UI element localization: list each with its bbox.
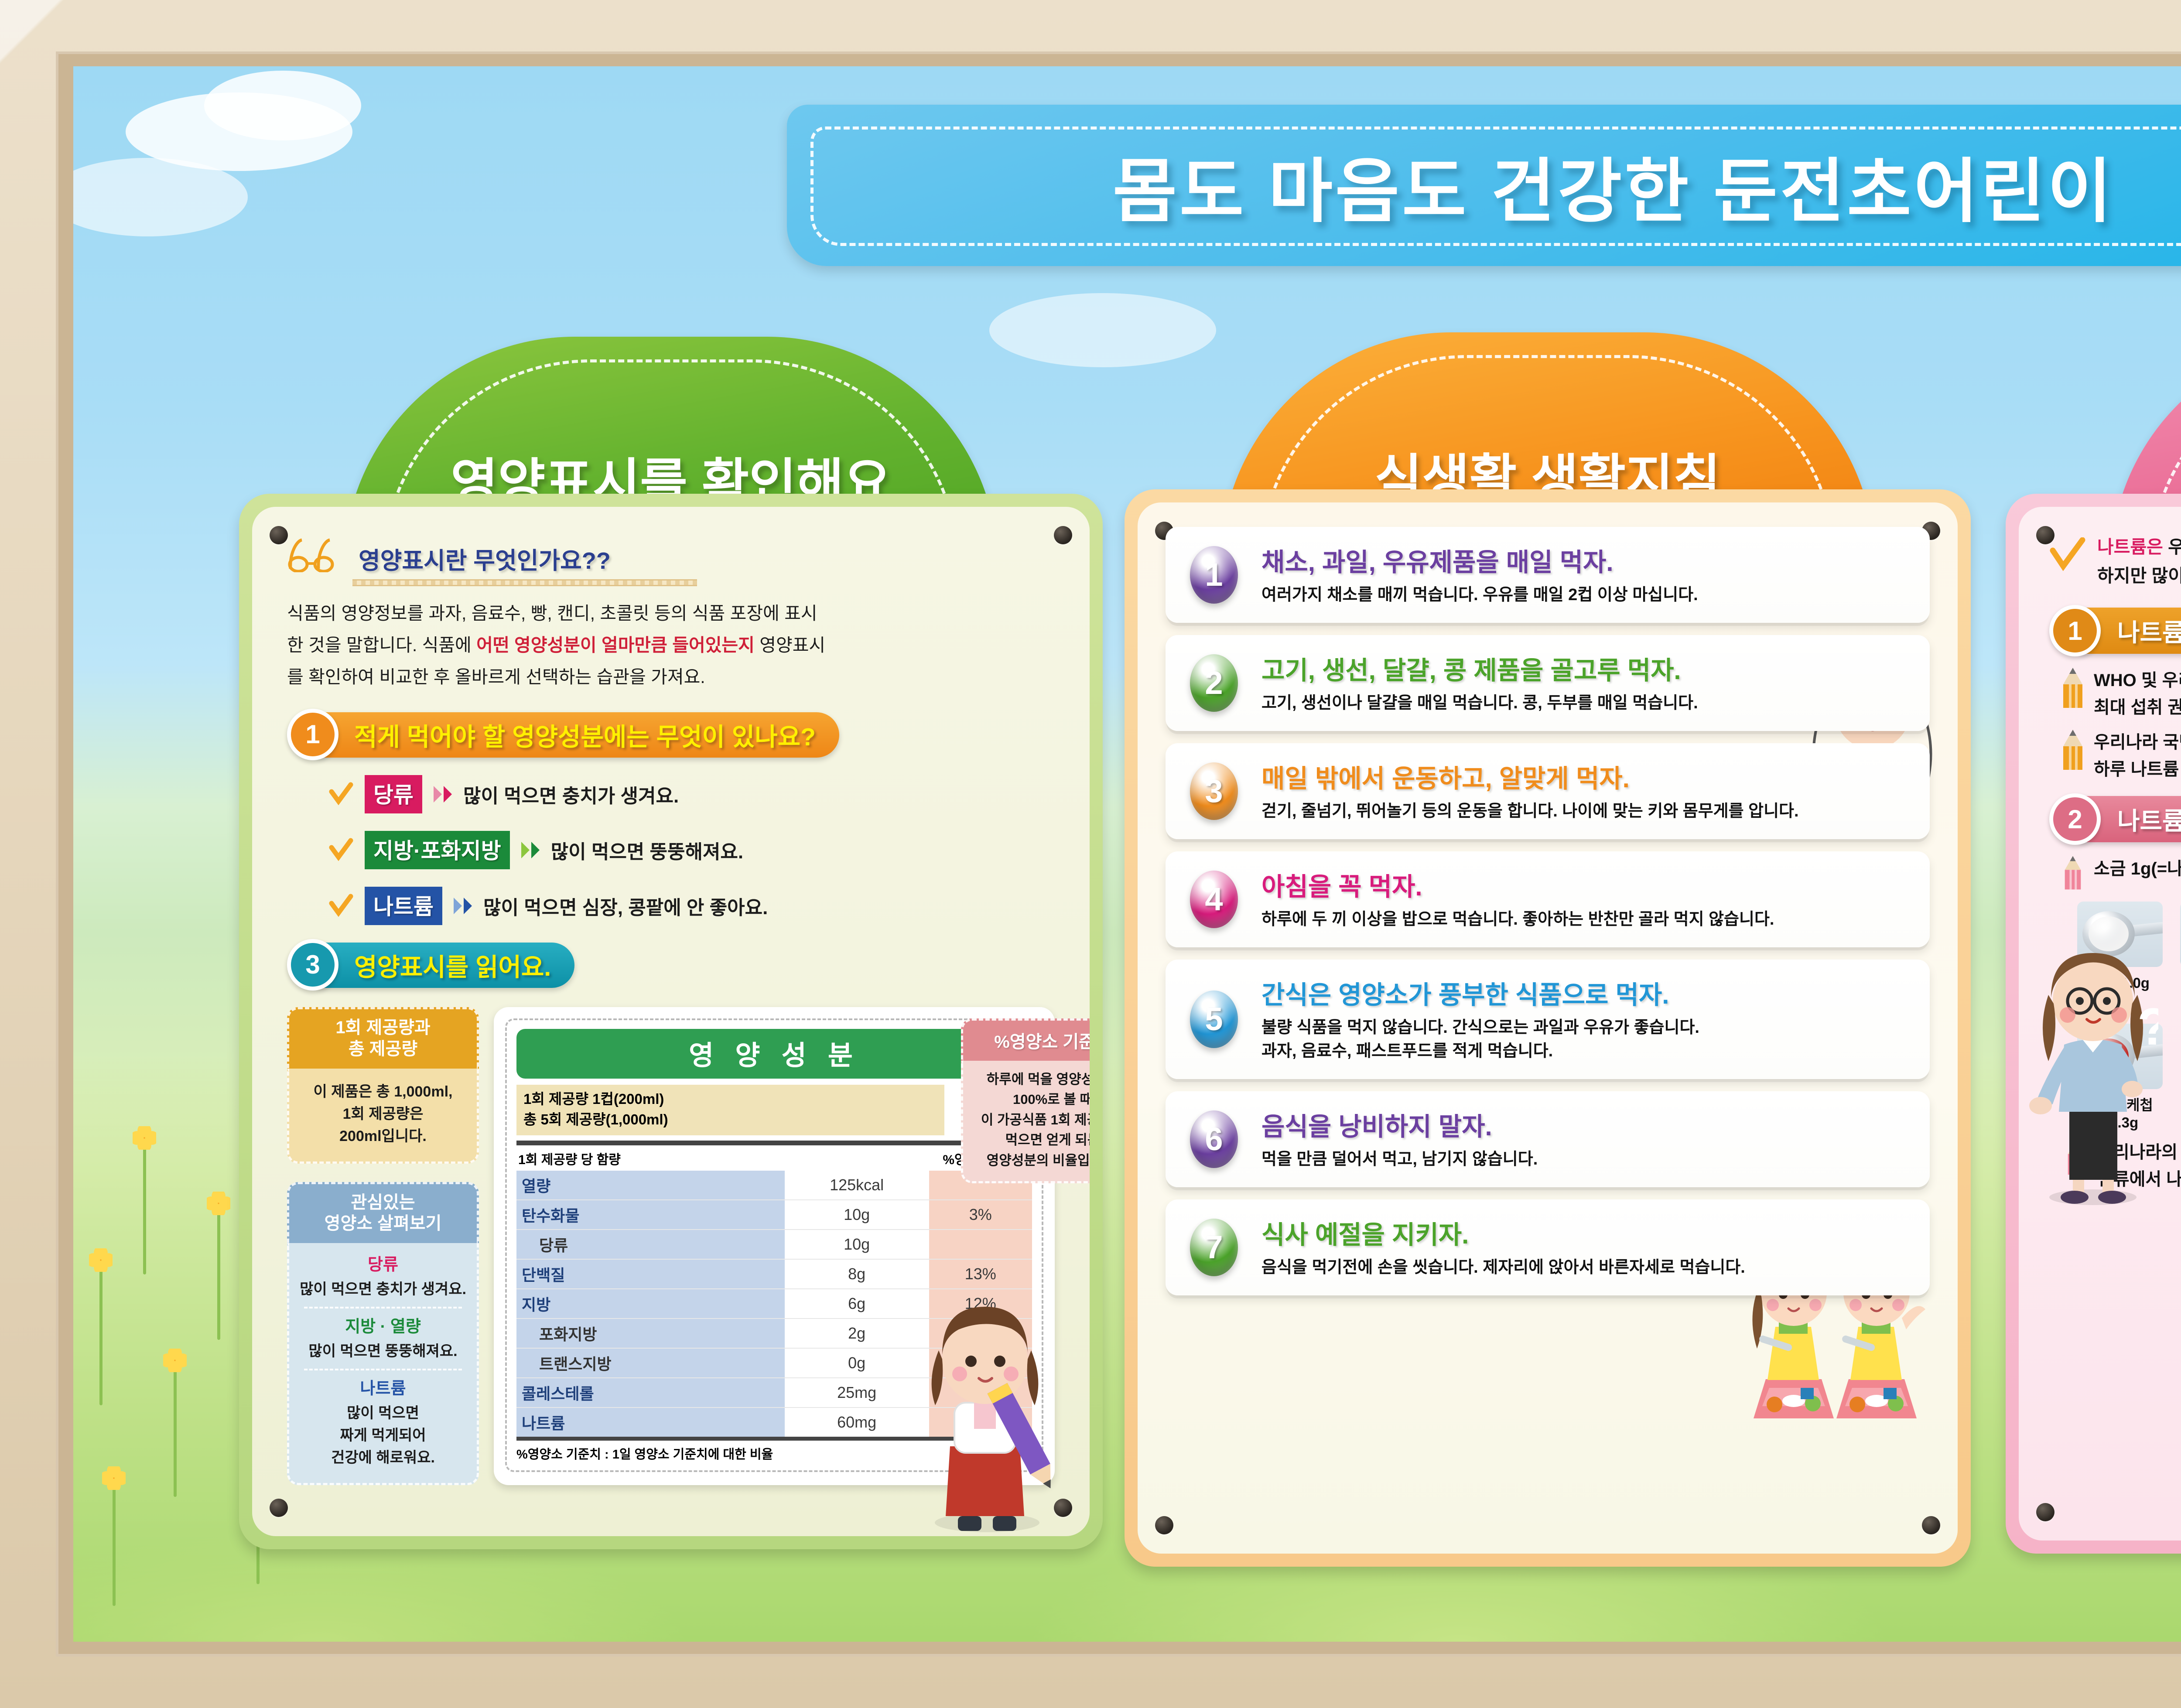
guideline-title: 매일 밖에서 운동하고, 알맞게 먹자. — [1261, 758, 1912, 795]
callout-body: 하루에 먹을 영양성분을 100%로 볼 때 이 가공식품 1회 제공량을 먹으… — [961, 1061, 1090, 1184]
interest-nutrients-box: 관심있는 영양소 살펴보기 당류 많이 먹으면 충치가 생겨요. 지방 · 열량… — [287, 1182, 479, 1486]
arrow-icons — [521, 842, 540, 858]
section-1-label: 적게 먹어야 할 영양성분에는 무엇이 있나요? — [354, 717, 816, 753]
interest-text: 많이 먹으면 뚱뚱해져요. — [296, 1340, 470, 1363]
explainer-side-column: 1회 제공량과 총 제공량 이 제품은 총 1,000ml, 1회 제공량은 2… — [287, 1007, 479, 1485]
nutrient-name: 콜레스테롤 — [516, 1378, 785, 1407]
teacher-girl-character: ? — [2027, 936, 2158, 1206]
flower-stem — [217, 1209, 220, 1340]
list-item: 지방·포화지방 많이 먹으면 뚱뚱해져요. — [329, 831, 1055, 869]
nutrient-name: 포화지방 — [516, 1319, 785, 1348]
nutrient-name: 나트륨 — [516, 1407, 785, 1437]
guideline-title: 고기, 생선, 달걀, 콩 제품을 골고루 먹자. — [1261, 650, 1912, 687]
nutrient-tag: 지방·포화지방 — [365, 831, 510, 869]
guideline-card: 6음식을 낭비하지 말자.먹을 만큼 덜어서 먹고, 남기지 않습니다. — [1166, 1091, 1930, 1187]
panel-left-card: 영양표시란 무엇인가요?? 식품의 영양정보를 과자, 음료수, 빵, 캔디, … — [239, 494, 1103, 1549]
flower-stem — [174, 1366, 177, 1497]
guideline-body: 고기, 생선이나 달걀을 매일 먹습니다. 콩, 두부를 매일 먹습니다. — [1261, 692, 1912, 715]
cloud — [204, 71, 361, 140]
nutrient-amount: 125kcal — [785, 1171, 929, 1200]
guideline-body: 불량 식품을 먹지 않습니다. 간식으로는 과일과 우유가 좋습니다. 과자, … — [1261, 1016, 1912, 1063]
interest-text: 많이 먹으면 충치가 생겨요. — [296, 1278, 470, 1301]
guideline-body: 여러가지 채소를 매끼 먹습니다. 우유를 매일 2컵 이상 마십니다. — [1261, 584, 1912, 607]
interest-name: 지방 · 열량 — [296, 1315, 470, 1339]
table-row: 탄수화물10g3% — [516, 1200, 1032, 1230]
fact-row: 우리나라 국민 1인당 하루 나트륨 섭취량 : 4,878mg (2011기준… — [2061, 729, 2181, 783]
glasses-icon — [287, 538, 348, 572]
divider — [304, 1369, 462, 1370]
nutrient-name: 트랜스지방 — [516, 1348, 785, 1378]
nutrient-tag: 당류 — [365, 775, 422, 813]
guideline-body: 음식을 먹기전에 손을 씻습니다. 제자리에 앉아서 바른자세로 먹습니다. — [1261, 1256, 1912, 1280]
guideline-card: 7식사 예절을 지키자.음식을 먹기전에 손을 씻습니다. 제자리에 앉아서 바… — [1166, 1199, 1930, 1295]
pencil-icon — [2061, 855, 2084, 890]
col-header-left: 1회 제공량 당 함량 — [518, 1149, 621, 1168]
guideline-card: 5간식은 영양소가 풍부한 식품으로 먹자.불량 식품을 먹지 않습니다. 간식… — [1166, 960, 1930, 1079]
panel-mid-inner: 1채소, 과일, 우유제품을 매일 먹자.여러가지 채소를 매끼 먹습니다. 우… — [1138, 502, 1958, 1554]
page-title: 몸도 마음도 건강한 둔전초어린이 — [1113, 135, 2114, 236]
nutrient-desc: 많이 먹으면 충치가 생겨요. — [463, 780, 679, 808]
serving-size-box: 1회 제공량과 총 제공량 이 제품은 총 1,000ml, 1회 제공량은 2… — [287, 1007, 479, 1164]
guideline-number: 3 — [1190, 762, 1238, 820]
girl-with-pencil-character — [893, 1272, 1081, 1534]
nutrient-name: 지방 — [516, 1289, 785, 1319]
section-3-label: 영양표시를 읽어요. — [354, 947, 551, 983]
reduce-nutrient-list: 당류 많이 먹으면 충치가 생겨요. 지방·포화지방 — [329, 775, 1055, 925]
interest-head: 관심있는 영양소 살펴보기 — [287, 1182, 479, 1243]
panel-dietary-guidelines: 식생활 생활지침 — [1125, 332, 1971, 1567]
guideline-title: 음식을 낭비하지 말자. — [1261, 1106, 1912, 1143]
interest-name: 나트륨 — [296, 1377, 470, 1401]
nutrient-name: 당류 — [516, 1230, 785, 1259]
guideline-card: 3매일 밖에서 운동하고, 알맞게 먹자.걷기, 줄넘기, 뛰어놀기 등의 운동… — [1166, 743, 1930, 839]
nutrient-percent — [929, 1230, 1032, 1259]
nutrient-desc: 많이 먹으면 심장, 콩팥에 안 좋아요. — [483, 892, 768, 920]
pencil-icon — [2061, 667, 2084, 709]
table-header: 1회 제공량 당 함량 %영양소 기준치 — [516, 1145, 1032, 1171]
guideline-number: 6 — [1190, 1110, 1238, 1168]
guideline-body: 하루에 두 끼 이상을 밥으로 먹습니다. 좋아하는 반찬만 골라 먹지 않습니… — [1261, 908, 1912, 932]
right-section-1-label: 나트륨 섭취량 얼마나 되나요? — [2117, 613, 2181, 649]
intro-highlight: 어떤 영양성분이 얼마만큼 들어있는지 — [476, 635, 755, 655]
poster: 몸도 마음도 건강한 둔전초어린이 영양표시를 확인해요 — [0, 0, 2181, 1708]
guideline-title: 식사 예절을 지키자. — [1261, 1214, 1912, 1251]
salt-equivalent-note-row: 소금 1g(=나트륨 400mg)에 해당하는 양 — [2061, 855, 2181, 890]
nutrient-desc: 많이 먹으면 뚱뚱해져요. — [551, 836, 743, 864]
check-icon — [329, 894, 353, 918]
arrow-icons — [454, 898, 472, 914]
screw — [2036, 1503, 2055, 1521]
arrow-icons — [434, 786, 452, 803]
decorative-underline — [352, 579, 697, 586]
guideline-body: 걷기, 줄넘기, 뛰어놀기 등의 운동을 합니다. 나이에 맞는 키와 몸무게를… — [1261, 800, 1912, 823]
check-icon — [329, 782, 353, 806]
guideline-number: 4 — [1190, 871, 1238, 928]
question-header: 영양표시란 무엇인가요?? — [287, 538, 1055, 576]
guidelines-list: 1채소, 과일, 우유제품을 매일 먹자.여러가지 채소를 매끼 먹습니다. 우… — [1138, 502, 1958, 1332]
poster-scene: 몸도 마음도 건강한 둔전초어린이 영양표시를 확인해요 — [73, 66, 2181, 1642]
flower-icon — [102, 1466, 126, 1490]
screw — [1922, 1516, 1940, 1534]
thick-rule — [516, 1141, 1032, 1145]
right-section-2-bar: 2 나트륨 어디에 많이 있나요? — [2049, 796, 2181, 842]
guideline-card: 4아침을 꼭 먹자.하루에 두 끼 이상을 밥으로 먹습니다. 좋아하는 반찬만… — [1166, 851, 1930, 947]
right-section-1-number: 1 — [2049, 605, 2101, 656]
panel-nutrition-label: 영양표시를 확인해요 — [239, 337, 1103, 1549]
flower-stem — [143, 1144, 146, 1274]
panel-right-card: 나트륨은 우리 몸의 체액과 혈액량을 일정하게 조절 해주는 중요한 영양 성… — [2006, 494, 2181, 1554]
serving-size-body: 이 제품은 총 1,000ml, 1회 제공량은 200ml입니다. — [287, 1069, 479, 1164]
guideline-card: 1채소, 과일, 우유제품을 매일 먹자.여러가지 채소를 매끼 먹습니다. 우… — [1166, 527, 1930, 623]
list-item: 당류 많이 먹으면 충치가 생겨요. — [329, 775, 1055, 813]
interest-body: 당류 많이 먹으면 충치가 생겨요. 지방 · 열량 많이 먹으면 뚱뚱해져요.… — [287, 1243, 479, 1485]
poster-title-banner: 몸도 마음도 건강한 둔전초어린이 — [787, 105, 2181, 266]
guideline-number: 2 — [1190, 654, 1238, 712]
sodium-intro: 나트륨은 우리 몸의 체액과 혈액량을 일정하게 조절 해주는 중요한 영양 성… — [2049, 533, 2181, 590]
guideline-title: 간식은 영양소가 풍부한 식품으로 먹자. — [1261, 974, 1912, 1011]
section-1-number: 1 — [287, 709, 338, 760]
guideline-number: 7 — [1190, 1219, 1238, 1276]
flower-icon — [207, 1192, 230, 1215]
section-3-bar: 3 영양표시를 읽어요. — [287, 943, 1055, 988]
right-section-2-label: 나트륨 어디에 많이 있나요? — [2117, 802, 2181, 837]
guideline-number: 5 — [1190, 991, 1238, 1048]
guideline-body: 먹을 만큼 덜어서 먹고, 남기지 않습니다. — [1261, 1148, 1912, 1172]
panel-right-inner: 나트륨은 우리 몸의 체액과 혈액량을 일정하게 조절 해주는 중요한 영양 성… — [2019, 507, 2181, 1541]
pencil-icon — [2061, 729, 2084, 771]
flower-stem — [113, 1484, 116, 1606]
daily-value-callout: %영양소 기준치 하루에 먹을 영양성분을 100%로 볼 때 이 가공식품 1… — [961, 1018, 1090, 1184]
nutrient-name: 단백질 — [516, 1259, 785, 1289]
screw — [1155, 1516, 1173, 1534]
serving-line-1: 1회 제공량 1컵(200ml) — [523, 1089, 937, 1110]
list-item: 나트륨 많이 먹으면 심장, 콩팥에 안 좋아요. — [329, 887, 1055, 925]
check-icon — [2049, 537, 2086, 574]
guideline-title: 채소, 과일, 우유제품을 매일 먹자. — [1261, 542, 1912, 578]
fact-row: WHO 및 우리나라 최대 섭취 권고량 : 2,000mg — [2061, 667, 2181, 721]
interest-name: 당류 — [296, 1253, 470, 1278]
serving-line-2: 총 5회 제공량(1,000ml) — [523, 1110, 937, 1130]
sodium-intro-text: 나트륨은 우리 몸의 체액과 혈액량을 일정하게 조절 해주는 중요한 영양 성… — [2097, 533, 2181, 590]
panel-left-inner: 영양표시란 무엇인가요?? 식품의 영양정보를 과자, 음료수, 빵, 캔디, … — [252, 507, 1090, 1536]
flower-icon — [89, 1248, 113, 1272]
check-icon — [329, 838, 353, 862]
nutrient-amount: 10g — [785, 1230, 929, 1259]
sodium-intro-strong: 나트륨은 — [2097, 537, 2163, 557]
guideline-number: 1 — [1190, 546, 1238, 604]
salt-equivalent-note: 소금 1g(=나트륨 400mg)에 해당하는 양 — [2094, 855, 2181, 882]
nutrient-percent: 3% — [929, 1200, 1032, 1230]
flower-icon — [133, 1126, 156, 1150]
nutrient-name: 열량 — [516, 1171, 785, 1200]
right-section-1-bar: 1 나트륨 섭취량 얼마나 되나요? — [2049, 608, 2181, 654]
intro-paragraph: 식품의 영양정보를 과자, 음료수, 빵, 캔디, 초콜릿 등의 식품 포장에 … — [287, 598, 828, 693]
interest-text: 많이 먹으면 짜게 먹게되어 건강에 해로워요. — [296, 1402, 470, 1469]
right-section-2-number: 2 — [2049, 793, 2101, 845]
panel-sodium: 나트륨 바로알기 나트륨은 우리 몸의 체액과 혈액량을 일정하게 조절 해주는… — [2006, 337, 2181, 1554]
divider — [304, 1307, 462, 1308]
serving-lines: 1회 제공량 1컵(200ml) 총 5회 제공량(1,000ml) — [516, 1085, 944, 1135]
flower-stem — [99, 1266, 103, 1405]
table-row: 당류10g — [516, 1230, 1032, 1259]
guideline-title: 아침을 꼭 먹자. — [1261, 866, 1912, 903]
nutrition-facts-title: 영 양 성 분 — [516, 1029, 1032, 1079]
table-row: 열량125kcal — [516, 1171, 1032, 1200]
serving-size-head: 1회 제공량과 총 제공량 — [287, 1007, 479, 1069]
guideline-card: 2고기, 생선, 달걀, 콩 제품을 골고루 먹자.고기, 생선이나 달걀을 매… — [1166, 635, 1930, 731]
svg-text:?: ? — [2137, 997, 2158, 1056]
flower-icon — [163, 1349, 187, 1372]
fact-text: 우리나라 국민 1인당 하루 나트륨 섭취량 : 4,878mg (2011기준… — [2094, 729, 2181, 783]
callout-head: %영양소 기준치 — [961, 1018, 1090, 1061]
panel-mid-card: 1채소, 과일, 우유제품을 매일 먹자.여러가지 채소를 매끼 먹습니다. 우… — [1125, 489, 1971, 1567]
section-1-bar: 1 적게 먹어야 할 영양성분에는 무엇이 있나요? — [287, 712, 1055, 758]
nutrient-tag: 나트륨 — [365, 887, 442, 925]
nutrient-name: 탄수화물 — [516, 1200, 785, 1230]
nutrient-amount: 10g — [785, 1200, 929, 1230]
fact-text: WHO 및 우리나라 최대 섭취 권고량 : 2,000mg — [2094, 667, 2181, 721]
question-title: 영양표시란 무엇인가요?? — [359, 541, 611, 576]
section-3-number: 3 — [287, 939, 338, 991]
